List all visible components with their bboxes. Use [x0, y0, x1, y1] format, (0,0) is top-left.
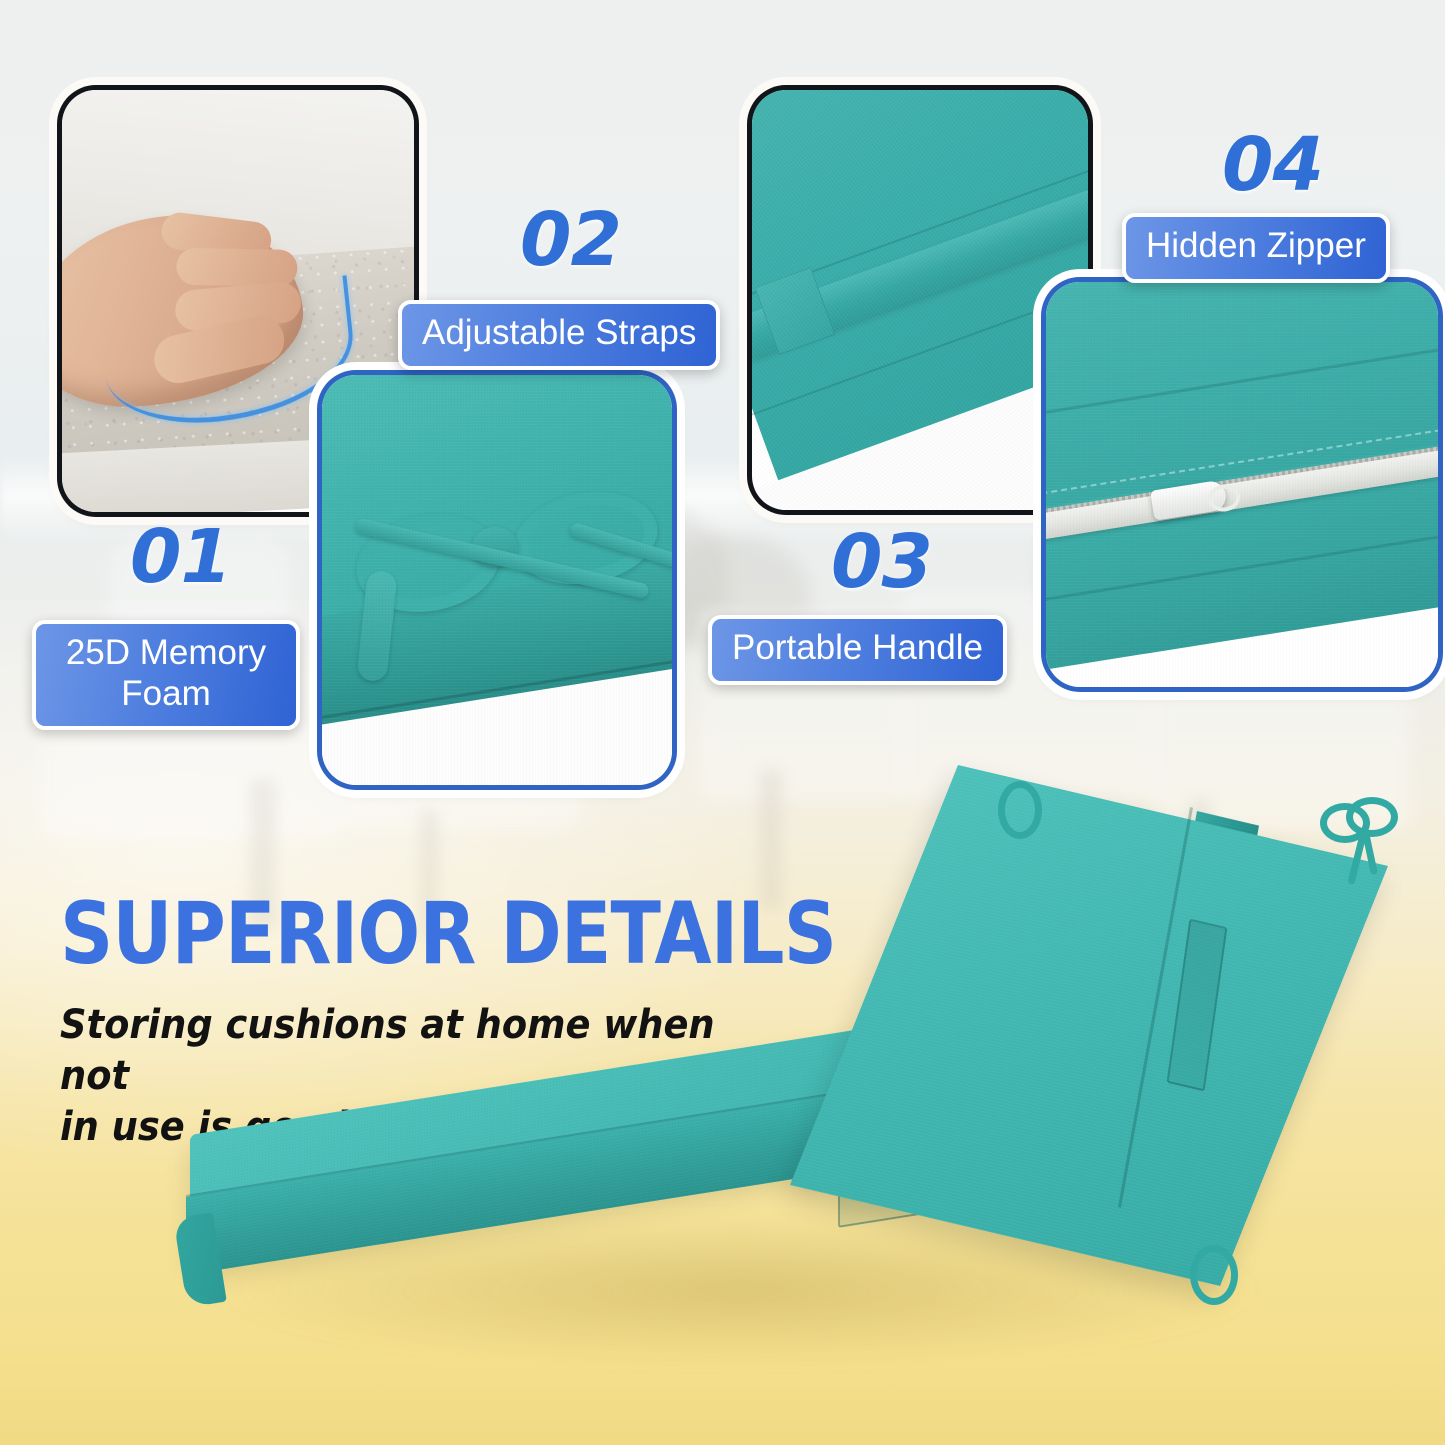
- feature-panel-portable-handle: [322, 375, 672, 785]
- infographic-canvas: 01 02 03 04 25D MemoryFoam Adjustable St…: [0, 0, 1445, 1445]
- feature-label-hidden-zipper: Hidden Zipper: [1122, 213, 1390, 283]
- feature-label-adjustable-straps: Adjustable Straps: [398, 300, 720, 370]
- feature-label-portable-handle: Portable Handle: [708, 615, 1007, 685]
- portable-handle-photo: [322, 375, 672, 785]
- feature-number-01: 01: [130, 520, 231, 594]
- feature-panel-adjustable-straps: [752, 90, 1088, 510]
- adjustable-straps-photo: [752, 90, 1088, 510]
- feature-panel-hidden-zipper: [1046, 282, 1438, 687]
- feature-label-memory-foam: 25D MemoryFoam: [32, 620, 300, 730]
- feature-number-03: 03: [831, 525, 932, 599]
- feature-number-04: 04: [1222, 128, 1323, 202]
- hidden-zipper-photo: [1046, 282, 1438, 687]
- hero-product-cushion: [150, 745, 1445, 1445]
- feature-number-02: 02: [520, 203, 621, 277]
